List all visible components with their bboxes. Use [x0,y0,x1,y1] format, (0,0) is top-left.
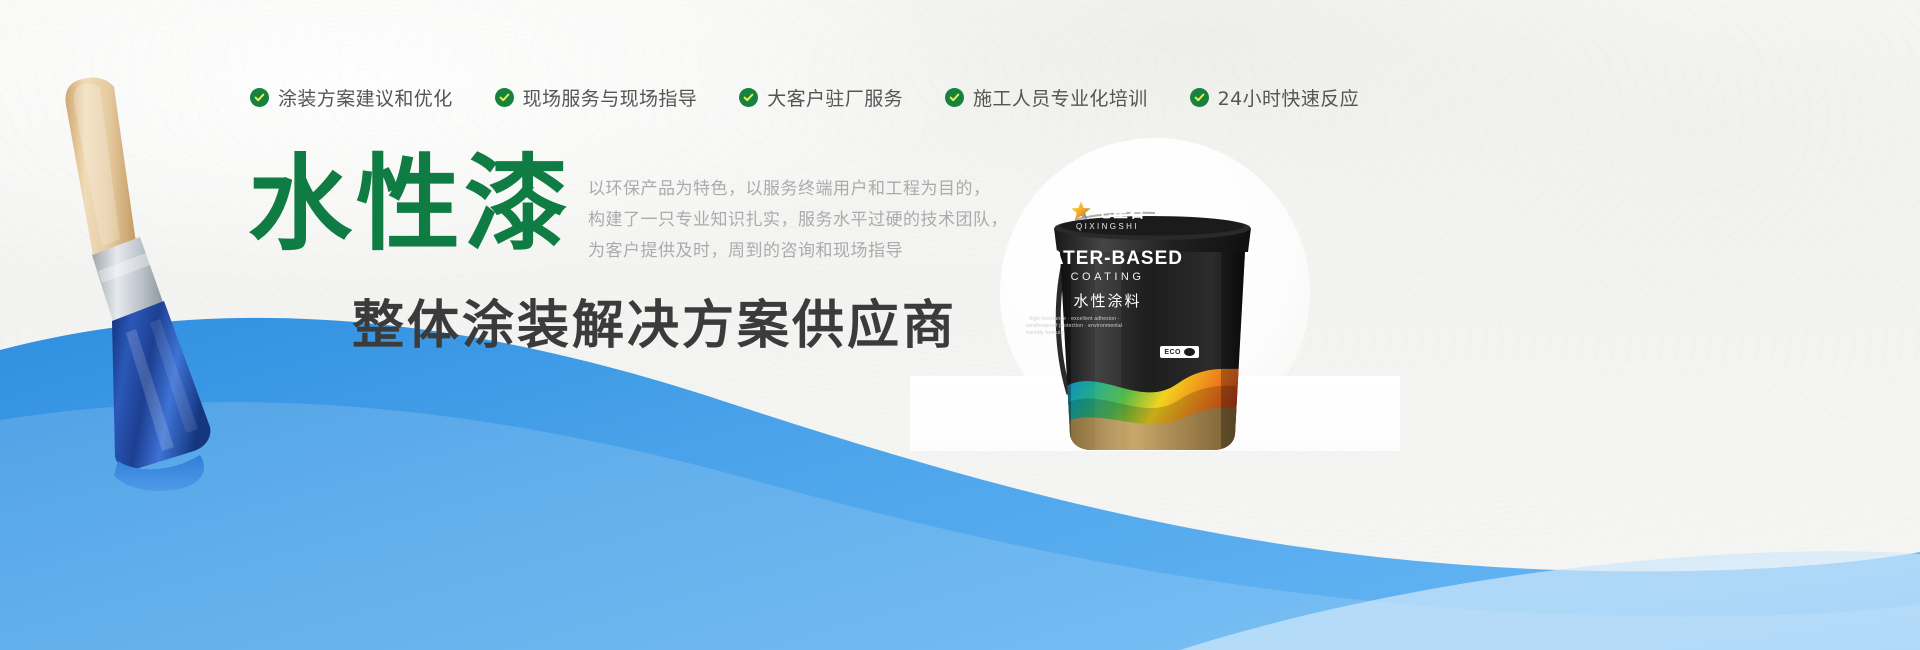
check-circle-icon [739,88,758,107]
check-circle-icon [495,88,514,107]
paint-brush-illustration [40,75,230,505]
feature-label: 大客户驻厂服务 [767,84,903,111]
product-showcase: 七星石 QIXINGSHI WATER-BASED COATING 水性涂料 ·… [1000,138,1330,448]
subheadline: 整体涂装解决方案供应商 [352,283,957,358]
headline-main: 水性漆 [248,152,572,256]
headline-row: 水性漆 以环保产品为特色，以服务终端用户和工程为目的， 构建了一只专业知识扎实，… [248,152,1008,267]
feature-item-4: 24小时快速反应 [1190,84,1359,111]
check-circle-icon [945,88,964,107]
feature-item-2: 大客户驻厂服务 [739,84,903,111]
paint-bucket-image [1045,198,1260,463]
feature-label: 涂装方案建议和优化 [278,84,453,111]
feature-label: 24小时快速反应 [1218,84,1359,111]
feature-list: 涂装方案建议和优化 现场服务与现场指导 大客户驻厂服务 施工人员专业化培训 24 [250,84,1359,111]
headline-description: 以环保产品为特色，以服务终端用户和工程为目的， 构建了一只专业知识扎实，服务水平… [588,152,1008,267]
description-line-0: 以环保产品为特色，以服务终端用户和工程为目的， [588,174,1008,205]
check-circle-icon [250,88,269,107]
hero-banner: 涂装方案建议和优化 现场服务与现场指导 大客户驻厂服务 施工人员专业化培训 24 [0,0,1920,650]
feature-item-3: 施工人员专业化培训 [945,84,1148,111]
feature-label: 现场服务与现场指导 [523,84,698,111]
feature-item-1: 现场服务与现场指导 [495,84,698,111]
feature-item-0: 涂装方案建议和优化 [250,84,453,111]
check-circle-icon [1190,88,1209,107]
feature-label: 施工人员专业化培训 [973,84,1148,111]
description-line-1: 构建了一只专业知识扎实，服务水平过硬的技术团队， [588,205,1008,236]
description-line-2: 为客户提供及时，周到的咨询和现场指导 [588,236,1008,267]
